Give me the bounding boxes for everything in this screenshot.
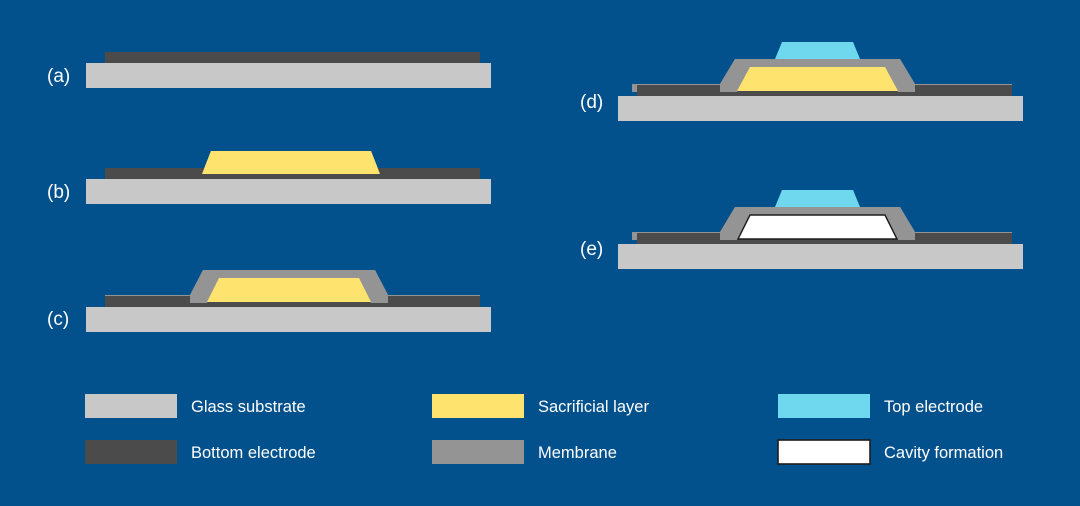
process-flow-diagram: (a) (b) (c) (d) [0, 0, 1080, 506]
panel-e-top-electrode [775, 190, 860, 207]
panel-b-label: (b) [47, 182, 70, 203]
panel-b-sacrificial-layer-front [202, 151, 380, 174]
legend-item-glass-substrate: Glass substrate [85, 394, 306, 418]
panel-c-label: (c) [47, 309, 69, 330]
figure-root: (a) (b) (c) (d) [0, 0, 1080, 506]
panel-a-label: (a) [47, 66, 70, 87]
legend-item-bottom-electrode: Bottom electrode [85, 440, 316, 464]
legend-label-cavity-formation: Cavity formation [884, 444, 1003, 462]
legend-swatch-cavity-formation [778, 440, 870, 464]
panel-e: (e) [580, 190, 1023, 269]
panel-e-cavity-front [738, 215, 897, 239]
legend-item-cavity-formation: Cavity formation [778, 440, 1003, 464]
panel-c-sacrificial-layer-front [207, 278, 371, 302]
legend-label-membrane: Membrane [538, 444, 617, 462]
panel-a: (a) [47, 52, 491, 88]
panel-b: (b) [47, 151, 491, 204]
panel-a-bottom-electrode [105, 52, 480, 63]
legend: Glass substrate Bottom electrode Sacrifi… [85, 394, 1003, 464]
legend-label-sacrificial-layer: Sacrificial layer [538, 398, 649, 416]
panel-d-top-electrode [775, 42, 860, 59]
panel-d-label: (d) [580, 92, 603, 113]
legend-swatch-glass-substrate [85, 394, 177, 418]
legend-swatch-top-electrode [778, 394, 870, 418]
panel-e-label: (e) [580, 239, 603, 260]
legend-label-top-electrode: Top electrode [884, 398, 983, 416]
legend-swatch-sacrificial-layer [432, 394, 524, 418]
panel-d-glass-substrate [618, 96, 1023, 121]
panel-d-sacrificial-layer-front [737, 67, 898, 91]
panel-b-glass-substrate [86, 179, 491, 204]
panel-c: (c) [47, 270, 491, 332]
panel-a-glass-substrate [86, 63, 491, 88]
legend-item-sacrificial-layer: Sacrificial layer [432, 394, 649, 418]
legend-label-bottom-electrode: Bottom electrode [191, 444, 316, 462]
legend-swatch-membrane [432, 440, 524, 464]
legend-swatch-bottom-electrode [85, 440, 177, 464]
panel-e-glass-substrate [618, 244, 1023, 269]
panel-c-glass-substrate [86, 307, 491, 332]
legend-label-glass-substrate: Glass substrate [191, 398, 306, 416]
legend-item-top-electrode: Top electrode [778, 394, 983, 418]
panel-d: (d) [580, 42, 1023, 121]
legend-item-membrane: Membrane [432, 440, 617, 464]
